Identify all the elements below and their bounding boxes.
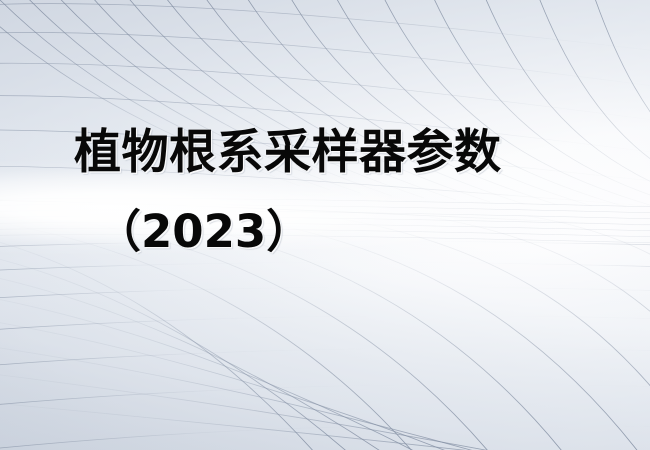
presentation-slide: 植物根系采样器参数 （2023） [0, 0, 650, 450]
slide-title-line-1: 植物根系采样器参数 [74, 124, 502, 182]
slide-title-block: 植物根系采样器参数 （2023） [0, 0, 650, 450]
slide-title-line-2: （2023） [96, 203, 311, 261]
